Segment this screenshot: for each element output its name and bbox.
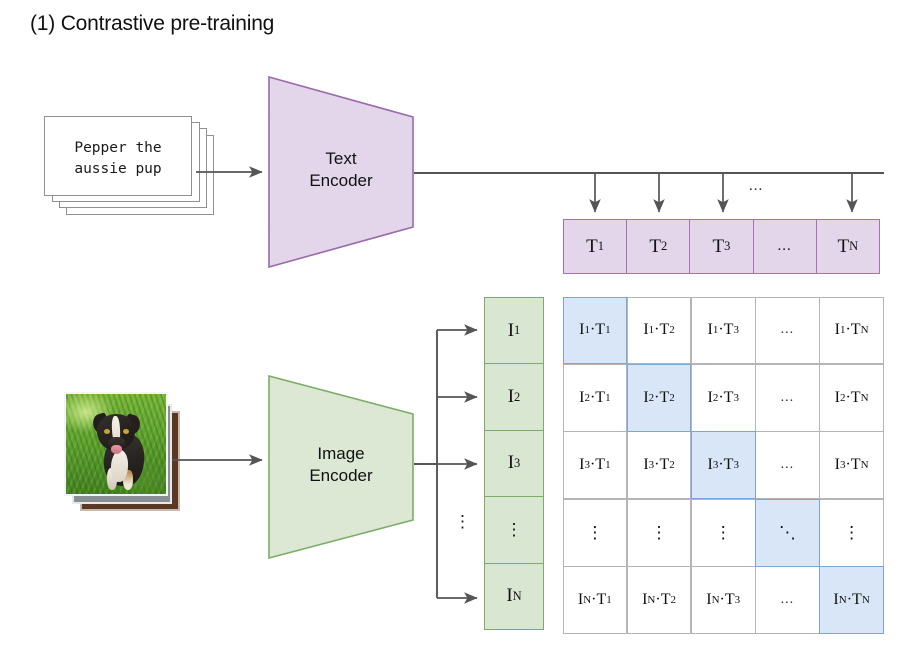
similarity-cell-r1-c1: I1·T1 — [563, 297, 628, 365]
similarity-cell-r4-c5: ⋮ — [819, 499, 884, 567]
text-embedding-row: T1T2T3...TN — [563, 219, 880, 274]
similarity-cell-r5-c1: IN·T1 — [563, 566, 628, 634]
similarity-cell-r1-c4: ... — [755, 297, 820, 365]
text-embedding-cell-4: ... — [753, 219, 817, 274]
similarity-cell-r3-c4: ... — [755, 431, 820, 499]
text-embedding-cell-1: T1 — [563, 219, 627, 274]
image-encoder-block[interactable]: Image Encoder — [268, 375, 414, 559]
caption-text: Pepper the aussie pup — [52, 138, 184, 180]
puppy-eye-right — [123, 429, 129, 434]
text-encoder-label: Text Encoder — [268, 148, 414, 192]
text-embedding-cell-3: T3 — [689, 219, 753, 274]
similarity-cell-r2-c4: ... — [755, 364, 820, 432]
similarity-cell-r2-c3: I2·T3 — [691, 364, 756, 432]
similarity-cell-r1-c5: I1·TN — [819, 297, 884, 365]
similarity-cell-r2-c2: I2·T2 — [627, 364, 692, 432]
similarity-cell-r3-c1: I3·T1 — [563, 431, 628, 499]
puppy-eye-left — [104, 429, 110, 434]
bus-vertical-ellipsis: ⋮ — [454, 512, 471, 532]
image-embedding-cell-4: ⋮ — [484, 496, 544, 563]
similarity-cell-r4-c3: ⋮ — [691, 499, 756, 567]
text-embedding-cell-2: T2 — [626, 219, 690, 274]
similarity-cell-r1-c2: I1·T2 — [627, 297, 692, 365]
image-embedding-cell-5: IN — [484, 563, 544, 630]
similarity-cell-r3-c2: I3·T2 — [627, 431, 692, 499]
bus-image-encoder-to-i-col — [414, 330, 477, 598]
diagram-canvas: (1) Contrastive pre-training Pepper the … — [0, 0, 906, 654]
similarity-cell-r2-c1: I2·T1 — [563, 364, 628, 432]
image-embedding-cell-1: I1 — [484, 297, 544, 364]
similarity-cell-r4-c1: ⋮ — [563, 499, 628, 567]
puppy-tongue — [111, 445, 122, 454]
photo-card-front-puppy — [64, 392, 168, 496]
image-embedding-column: I1I2I3⋮IN — [484, 297, 544, 630]
similarity-cell-r5-c2: IN·T2 — [627, 566, 692, 634]
similarity-cell-r5-c3: IN·T3 — [691, 566, 756, 634]
bus-horizontal-ellipsis: ... — [749, 178, 763, 195]
similarity-cell-r3-c3: I3·T3 — [691, 431, 756, 499]
similarity-cell-r4-c2: ⋮ — [627, 499, 692, 567]
similarity-cell-r1-c3: I1·T3 — [691, 297, 756, 365]
text-embedding-cell-5: TN — [816, 219, 880, 274]
image-embedding-cell-3: I3 — [484, 430, 544, 497]
similarity-cell-r5-c4: ... — [755, 566, 820, 634]
image-encoder-label: Image Encoder — [268, 443, 414, 487]
text-encoder-block[interactable]: Text Encoder — [268, 76, 414, 268]
figure-title: (1) Contrastive pre-training — [30, 12, 274, 36]
similarity-cell-r3-c5: I3·TN — [819, 431, 884, 499]
similarity-cell-r2-c5: I2·TN — [819, 364, 884, 432]
bus-text-encoder-to-t-row — [414, 173, 884, 212]
similarity-cell-r5-c5: IN·TN — [819, 566, 884, 634]
image-embedding-cell-2: I2 — [484, 363, 544, 430]
similarity-cell-r4-c4: ⋱ — [755, 499, 820, 567]
similarity-matrix: I1·T1I1·T2I1·T3...I1·TNI2·T1I2·T2I2·T3..… — [563, 297, 884, 634]
